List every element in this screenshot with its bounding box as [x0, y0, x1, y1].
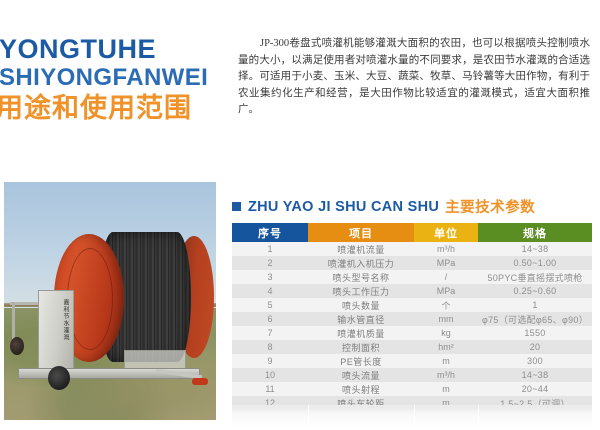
cell-unit: mm [414, 312, 478, 326]
table-row: 5喷头数量个1 [232, 298, 592, 312]
cell-spec: 0.25~0.60 [478, 284, 592, 298]
cell-unit: m³/h [414, 242, 478, 256]
cell-unit: 个 [414, 298, 478, 312]
cell-no: 5 [232, 298, 308, 312]
cell-item: PE管长度 [308, 354, 414, 368]
title-pinyin-line-1: YONGTUHE [0, 34, 228, 64]
column-header-no: 序号 [232, 223, 308, 242]
table-row: 9PE管长度m300 [232, 354, 592, 368]
table-bottom-fade [232, 405, 592, 427]
cell-spec: 300 [478, 354, 592, 368]
machine-brand-label: 嘉利节水灌溉 [48, 299, 68, 345]
cell-unit: m [414, 354, 478, 368]
cell-item: 喷头型号名称 [308, 270, 414, 284]
table-row: 2喷灌机入机压力MPa0.50~1.00 [232, 256, 592, 270]
cell-no: 4 [232, 284, 308, 298]
cell-spec: 1550 [478, 326, 592, 340]
column-header-spec: 规格 [478, 223, 592, 242]
cell-unit: MPa [414, 256, 478, 270]
table-row: 10喷头流量m³/h14~38 [232, 368, 592, 382]
table-row: 8控制面积hm²20 [232, 340, 592, 354]
cell-no: 9 [232, 354, 308, 368]
cell-no: 2 [232, 256, 308, 270]
cell-unit: m [414, 382, 478, 396]
spec-table-head: 序号 项目 单位 规格 [232, 223, 592, 242]
cell-spec: 50PYC垂直摇摆式喷枪 [478, 270, 592, 284]
cell-spec: 0.50~1.00 [478, 256, 592, 270]
cell-item: 喷灌机入机压力 [308, 256, 414, 270]
cell-item: 喷头流量 [308, 368, 414, 382]
spec-table-body: 1喷灌机流量m³/h14~382喷灌机入机压力MPa0.50~1.003喷头型号… [232, 242, 592, 410]
machine-tow-hook [192, 378, 208, 385]
square-bullet-icon [232, 202, 241, 211]
cell-item: 喷灌机质量 [308, 326, 414, 340]
cell-item: 喷头工作压力 [308, 284, 414, 298]
cell-no: 10 [232, 368, 308, 382]
cell-no: 11 [232, 382, 308, 396]
table-row: 7喷灌机质量kg1550 [232, 326, 592, 340]
page-title-block: YONGTUHE SHIYONGFANWEI 用途和使用范围 [2, 34, 228, 124]
cell-no: 6 [232, 312, 308, 326]
cell-unit: / [414, 270, 478, 284]
table-row: 4喷头工作压力MPa0.25~0.60 [232, 284, 592, 298]
product-photo: 嘉利节水灌溉 [4, 182, 216, 420]
spec-table: 序号 项目 单位 规格 1喷灌机流量m³/h14~382喷灌机入机压力MPa0.… [232, 223, 592, 410]
section-heading: ZHU YAO JI SHU CAN SHU 主要技术参数 [232, 196, 535, 217]
machine-guide-wheel [10, 337, 24, 355]
cell-spec: 14~38 [478, 242, 592, 256]
machine-body-panel: 嘉利节水灌溉 [38, 290, 74, 370]
cell-item: 控制面积 [308, 340, 414, 354]
cell-no: 1 [232, 242, 308, 256]
cell-unit: MPa [414, 284, 478, 298]
cell-item: 喷头射程 [308, 382, 414, 396]
cell-item: 输水管直径 [308, 312, 414, 326]
cell-spec: 20 [478, 340, 592, 354]
table-row: 1喷灌机流量m³/h14~38 [232, 242, 592, 256]
cell-no: 3 [232, 270, 308, 284]
cell-unit: m³/h [414, 368, 478, 382]
cell-spec: 1 [478, 298, 592, 312]
title-pinyin-line-2: SHIYONGFANWEI [0, 64, 228, 92]
section-heading-pinyin: ZHU YAO JI SHU CAN SHU [248, 199, 439, 215]
cell-item: 喷灌机流量 [308, 242, 414, 256]
column-header-item: 项目 [308, 223, 414, 242]
cell-no: 8 [232, 340, 308, 354]
cell-unit: kg [414, 326, 478, 340]
intro-paragraph: JP-300卷盘式喷灌机能够灌溉大面积的农田，也可以根据喷头控制喷水量的大小，以… [238, 36, 590, 119]
column-header-unit: 单位 [414, 223, 478, 242]
cell-item: 喷头数量 [308, 298, 414, 312]
cell-spec: 20~44 [478, 382, 592, 396]
table-row: 3喷头型号名称/50PYC垂直摇摆式喷枪 [232, 270, 592, 284]
cell-unit: hm² [414, 340, 478, 354]
cell-spec: φ75（可选配φ65、φ90） [478, 312, 592, 326]
table-row: 6输水管直径mmφ75（可选配φ65、φ90） [232, 312, 592, 326]
title-chinese: 用途和使用范围 [0, 93, 228, 124]
table-header-row: 序号 项目 单位 规格 [232, 223, 592, 242]
cell-spec: 14~38 [478, 368, 592, 382]
section-heading-chinese: 主要技术参数 [445, 196, 535, 217]
machine-wheel [48, 366, 70, 390]
cell-no: 7 [232, 326, 308, 340]
table-row: 11喷头射程m20~44 [232, 382, 592, 396]
